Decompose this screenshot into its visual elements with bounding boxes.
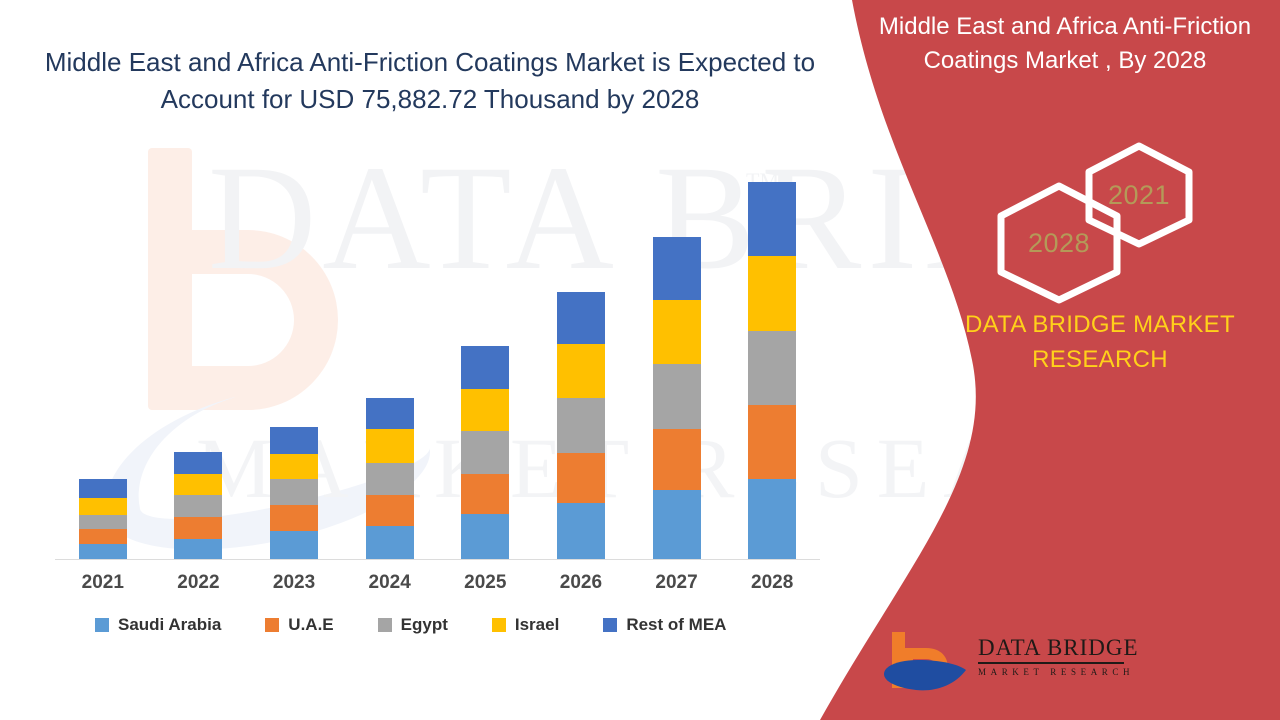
x-axis-tick-labels: 20212022202320242025202620272028 — [55, 572, 820, 602]
bar-segment[interactable] — [79, 544, 127, 559]
bar-segment[interactable] — [174, 539, 222, 559]
panel-title: Middle East and Africa Anti-Friction Coa… — [860, 10, 1270, 78]
legend-swatch-icon — [603, 618, 617, 632]
bar-segment[interactable] — [270, 479, 318, 505]
logo-divider — [978, 662, 1124, 664]
brand-name: DATA BRIDGE MARKET RESEARCH — [940, 308, 1260, 378]
x-axis-label-2023: 2023 — [254, 572, 334, 594]
bar-segment[interactable] — [653, 490, 701, 559]
bar-segment[interactable] — [270, 531, 318, 559]
legend-item-israel[interactable]: Israel — [492, 615, 559, 635]
bar-segment[interactable] — [270, 427, 318, 454]
company-logo: DATA BRIDGE MARKET RESEARCH — [882, 630, 1122, 698]
bar-segment[interactable] — [270, 454, 318, 479]
bar-segment[interactable] — [461, 431, 509, 474]
bar-segment[interactable] — [79, 479, 127, 498]
databridge-logo-mark-icon — [882, 630, 974, 698]
hexagon-badges: 2021 2028 — [985, 140, 1215, 290]
bar-segment[interactable] — [366, 495, 414, 526]
bar-group-2024[interactable] — [366, 398, 414, 559]
bar-segment[interactable] — [557, 453, 605, 503]
bar-segment[interactable] — [366, 463, 414, 495]
bar-segment[interactable] — [174, 495, 222, 517]
bar-segment[interactable] — [366, 429, 414, 463]
bar-segment[interactable] — [174, 474, 222, 495]
bar-segment[interactable] — [79, 515, 127, 529]
legend-item-egypt[interactable]: Egypt — [378, 615, 448, 635]
legend-label: Saudi Arabia — [118, 615, 221, 635]
bar-segment[interactable] — [653, 300, 701, 364]
bar-segment[interactable] — [270, 505, 318, 531]
bar-group-2026[interactable] — [557, 292, 605, 559]
bar-segment[interactable] — [174, 517, 222, 539]
legend-label: Israel — [515, 615, 559, 635]
x-axis-label-2022: 2022 — [158, 572, 238, 594]
bar-segment[interactable] — [653, 429, 701, 490]
bar-group-2027[interactable] — [653, 237, 701, 559]
bar-segment[interactable] — [557, 503, 605, 559]
bar-group-2021[interactable] — [79, 479, 127, 559]
legend-swatch-icon — [378, 618, 392, 632]
legend-item-saudi-arabia[interactable]: Saudi Arabia — [95, 615, 221, 635]
logo-subtitle: MARKET RESEARCH — [978, 667, 1124, 677]
legend-label: Egypt — [401, 615, 448, 635]
stacked-bar-chart — [55, 150, 820, 560]
bar-segment[interactable] — [461, 389, 509, 431]
legend-swatch-icon — [265, 618, 279, 632]
bar-segment[interactable] — [461, 474, 509, 514]
bar-segment[interactable] — [653, 237, 701, 300]
x-axis-label-2021: 2021 — [63, 572, 143, 594]
bar-segment[interactable] — [461, 514, 509, 559]
hexagon-label: 2028 — [1028, 228, 1090, 259]
bar-segment[interactable] — [557, 344, 605, 398]
bar-segment[interactable] — [79, 498, 127, 515]
bar-segment[interactable] — [174, 452, 222, 474]
bar-segment[interactable] — [557, 398, 605, 453]
bar-group-2025[interactable] — [461, 346, 509, 559]
legend-label: U.A.E — [288, 615, 333, 635]
logo-title: DATA BRIDGE — [978, 636, 1124, 659]
x-axis-label-2025: 2025 — [445, 572, 525, 594]
legend-item-u-a-e[interactable]: U.A.E — [265, 615, 333, 635]
bar-segment[interactable] — [366, 526, 414, 559]
hexagon-badge-2028: 2028 — [991, 180, 1127, 306]
bar-segment[interactable] — [366, 398, 414, 429]
legend-swatch-icon — [95, 618, 109, 632]
x-axis-label-2026: 2026 — [541, 572, 621, 594]
x-axis-line — [55, 559, 820, 560]
legend-swatch-icon — [492, 618, 506, 632]
bar-segment[interactable] — [79, 529, 127, 544]
bar-group-2023[interactable] — [270, 427, 318, 559]
page-title: Middle East and Africa Anti-Friction Coa… — [40, 44, 820, 118]
x-axis-label-2027: 2027 — [637, 572, 717, 594]
x-axis-label-2024: 2024 — [350, 572, 430, 594]
legend-item-rest-of-mea[interactable]: Rest of MEA — [603, 615, 726, 635]
bar-segment[interactable] — [461, 346, 509, 389]
bar-group-2022[interactable] — [174, 452, 222, 559]
infographic-root: DATA BRIDGE TM MARKET RESEARCH Middle Ea… — [0, 0, 1280, 720]
right-brand-panel: Middle East and Africa Anti-Friction Coa… — [760, 0, 1280, 720]
bar-segment[interactable] — [557, 292, 605, 344]
chart-plot-area — [55, 150, 820, 560]
bar-segment[interactable] — [653, 364, 701, 429]
chart-legend: Saudi ArabiaU.A.EEgyptIsraelRest of MEA — [95, 615, 770, 635]
legend-label: Rest of MEA — [626, 615, 726, 635]
